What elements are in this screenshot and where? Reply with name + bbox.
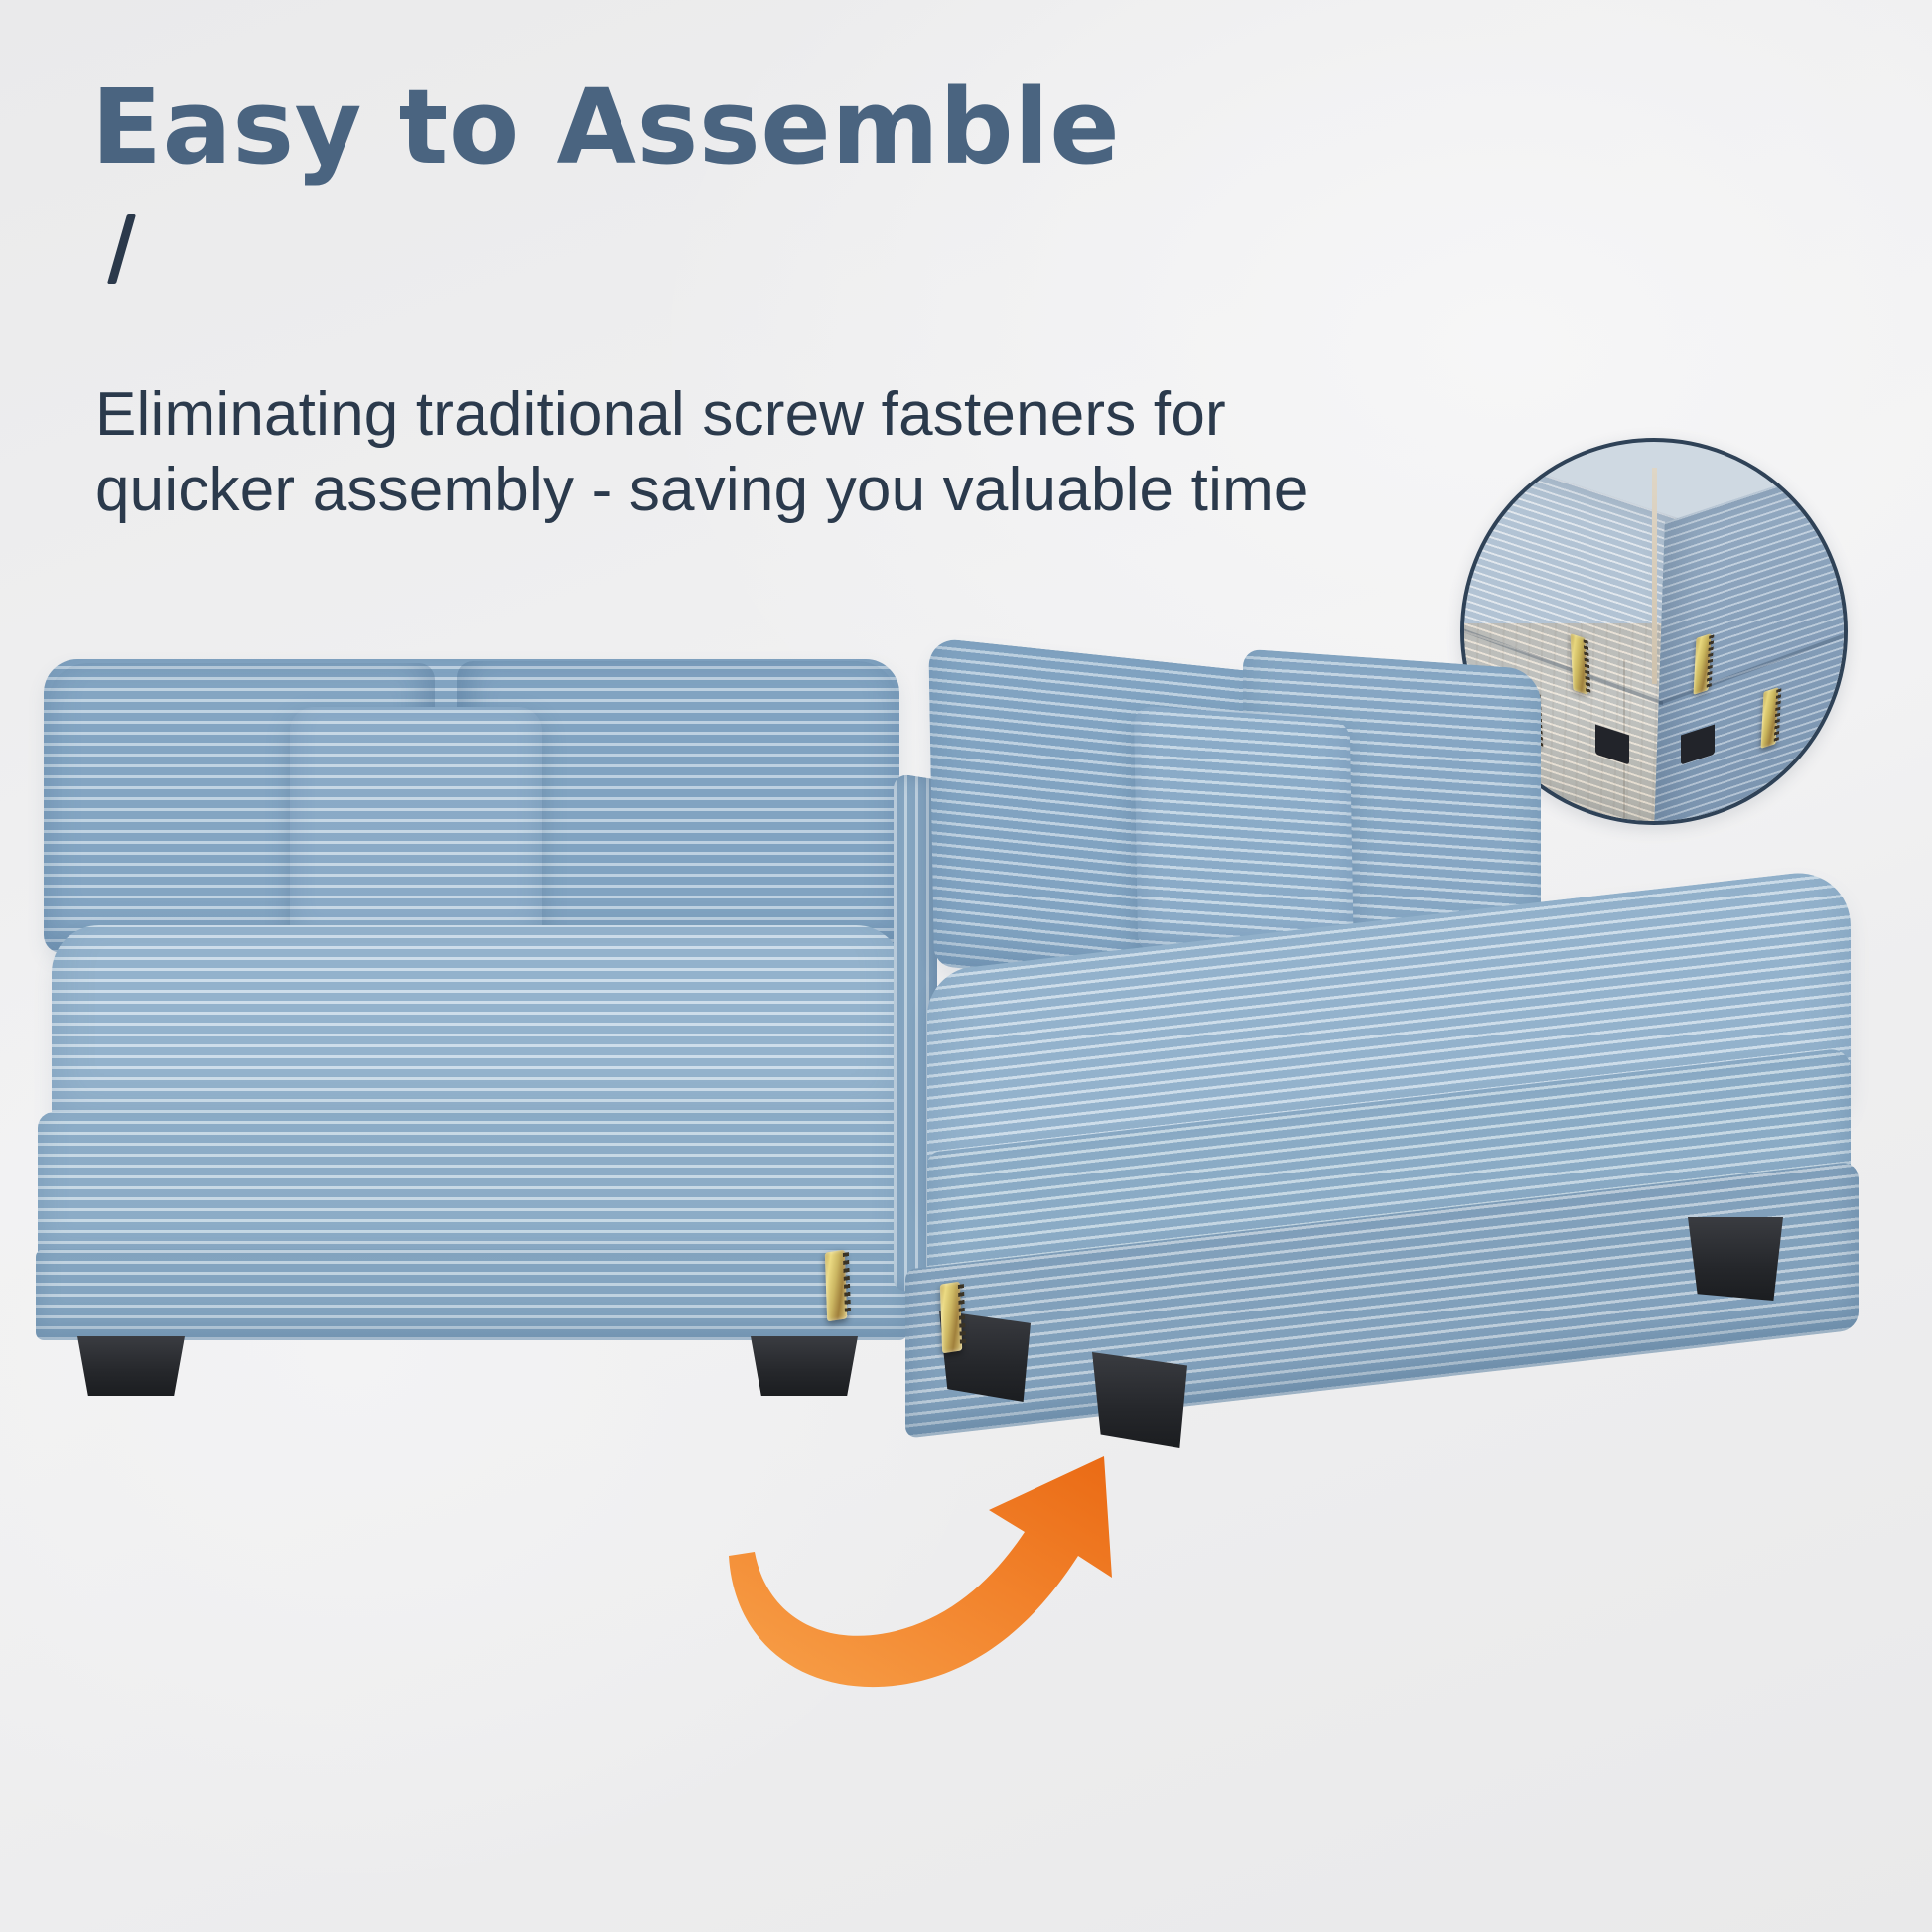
accent-slash-icon bbox=[107, 214, 136, 284]
subcopy-line-2: quicker assembly - saving you valuable t… bbox=[95, 453, 1346, 528]
sofa-leg bbox=[1092, 1352, 1187, 1448]
base-plinth bbox=[36, 1249, 907, 1340]
subcopy-line-1: Eliminating traditional screw fasteners … bbox=[95, 377, 1346, 453]
pointer-arrow-icon bbox=[695, 1445, 1152, 1772]
connector-clip-icon bbox=[825, 1250, 847, 1322]
sofa-leg bbox=[77, 1336, 185, 1396]
subcopy-block: Eliminating traditional screw fasteners … bbox=[95, 377, 1346, 527]
connector-clip-icon bbox=[940, 1282, 962, 1354]
throw-pillow bbox=[290, 707, 542, 953]
sofa-leg bbox=[1688, 1217, 1783, 1301]
sofa-leg bbox=[751, 1336, 858, 1396]
infographic-canvas: Easy to Assemble Eliminating traditional… bbox=[0, 0, 1932, 1932]
page-title: Easy to Assemble bbox=[91, 75, 1120, 179]
